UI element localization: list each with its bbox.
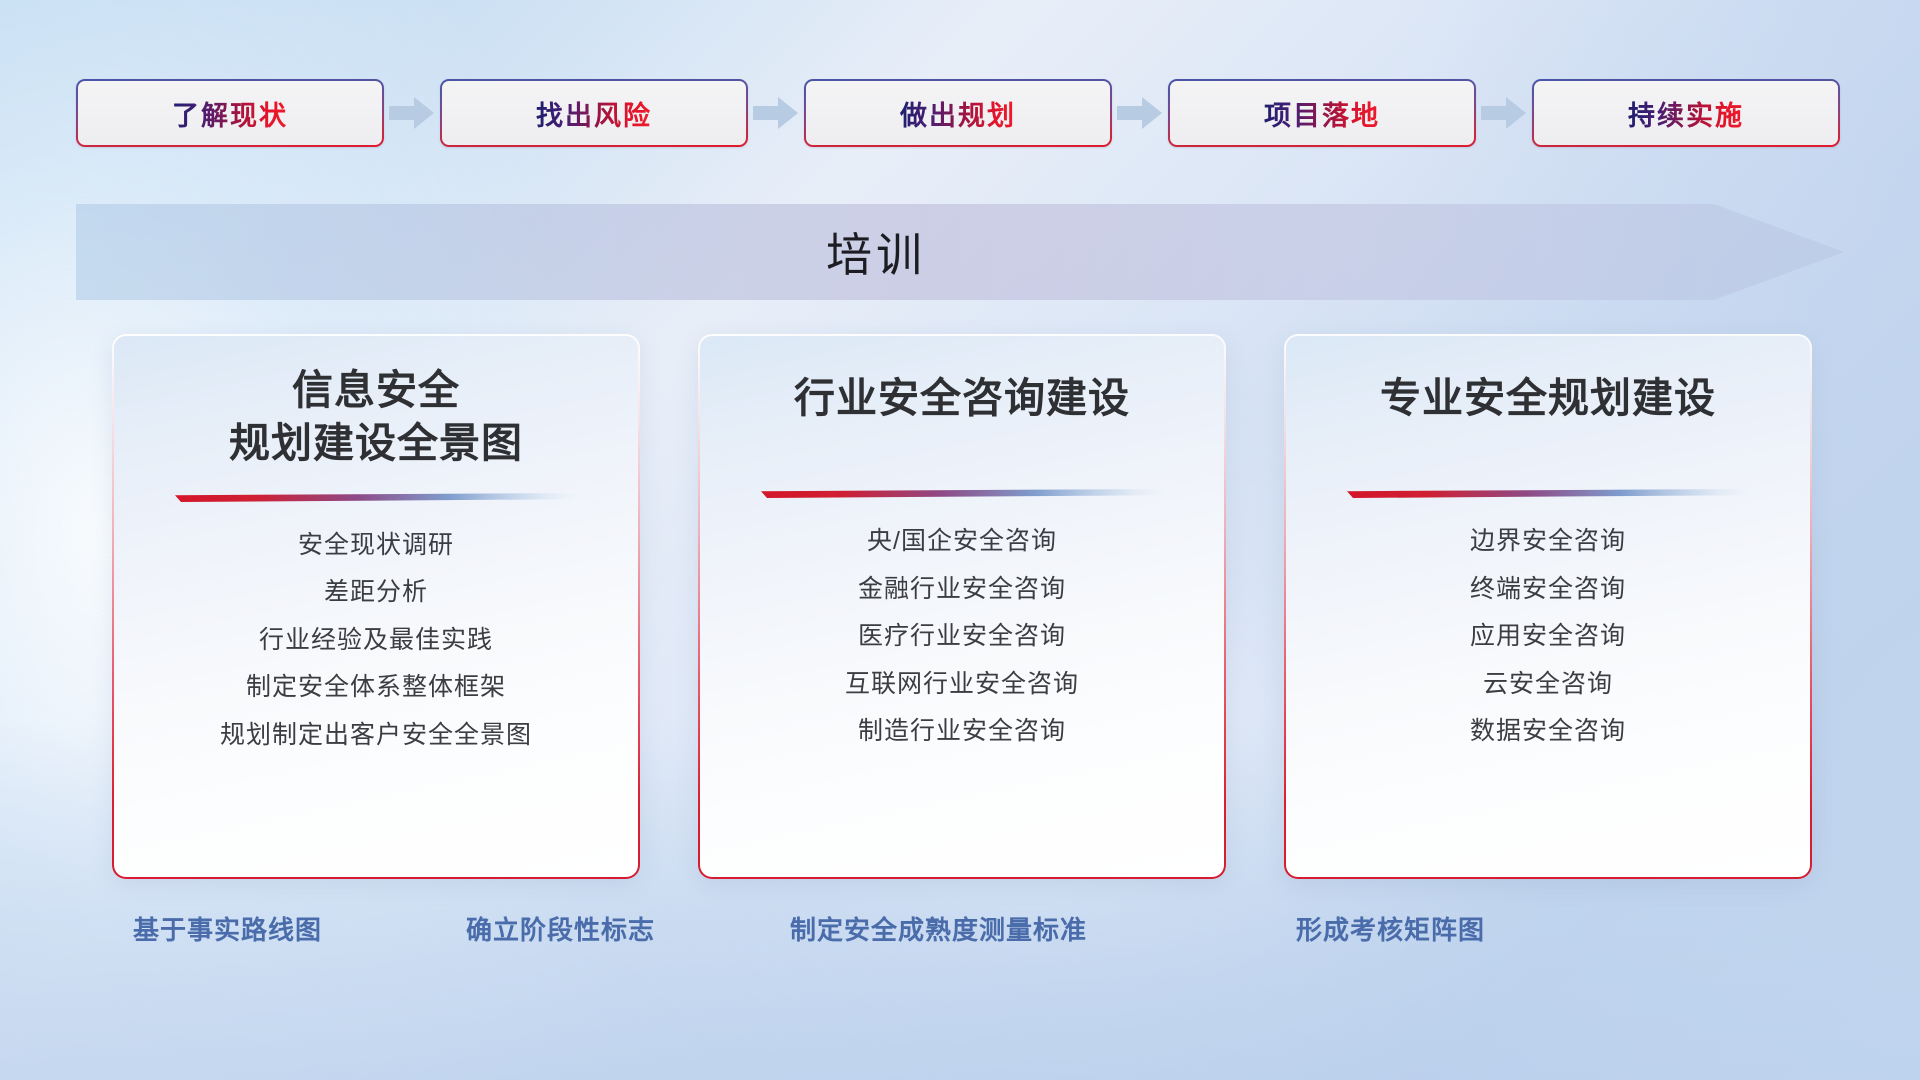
step-arrow-icon-3 xyxy=(1112,93,1168,133)
list-item: 应用安全咨询 xyxy=(1470,619,1626,655)
step-arrow-icon-2 xyxy=(748,93,804,133)
step-label-2: 找出风险 xyxy=(536,94,652,133)
offering-card-1-title: 信息安全 规划建设全景图 xyxy=(114,364,638,471)
list-item: 央/国企安全咨询 xyxy=(867,524,1057,560)
process-steps-row: 了解现状 找出风险 做出规划 项目落地 xyxy=(76,79,1844,147)
list-item: 安全现状调研 xyxy=(298,528,454,564)
list-item: 数据安全咨询 xyxy=(1470,714,1626,750)
step-box-5-inner: 持续实施 xyxy=(1534,81,1838,145)
list-item: 互联网行业安全咨询 xyxy=(845,667,1079,703)
list-item: 金融行业安全咨询 xyxy=(858,572,1066,608)
footer-label-3: 制定安全成熟度测量标准 xyxy=(790,910,1087,947)
training-banner: 培训 xyxy=(76,204,1844,300)
step-label-5: 持续实施 xyxy=(1628,94,1744,133)
list-item: 制定安全体系整体框架 xyxy=(246,670,506,706)
step-box-1[interactable]: 了解现状 xyxy=(76,79,384,147)
footer-label-4: 形成考核矩阵图 xyxy=(1296,910,1485,947)
offering-card-3-inner: 专业安全规划建设 xyxy=(1286,336,1810,877)
list-item: 边界安全咨询 xyxy=(1470,524,1626,560)
offering-card-1[interactable]: 信息安全 规划建设全景图 xyxy=(112,334,640,879)
step-label-3: 做出规划 xyxy=(900,94,1016,133)
offering-card-1-title-line2: 规划建设全景图 xyxy=(114,417,638,470)
step-arrow-icon-4 xyxy=(1476,93,1532,133)
step-box-3[interactable]: 做出规划 xyxy=(804,79,1112,147)
offering-card-2-title: 行业安全咨询建设 xyxy=(700,372,1224,425)
offering-card-1-list: 安全现状调研 差距分析 行业经验及最佳实践 制定安全体系整体框架 规划制定出客户… xyxy=(114,528,638,754)
list-item: 行业经验及最佳实践 xyxy=(259,623,493,659)
step-box-1-inner: 了解现状 xyxy=(78,81,382,145)
offering-card-2-title-line1: 行业安全咨询建设 xyxy=(700,372,1224,425)
list-item: 差距分析 xyxy=(324,575,428,611)
footer-labels-row: 基于事实路线图 确立阶段性标志 制定安全成熟度测量标准 形成考核矩阵图 xyxy=(0,910,1920,966)
step-box-2-inner: 找出风险 xyxy=(442,81,746,145)
step-box-4[interactable]: 项目落地 xyxy=(1168,79,1476,147)
offering-card-2-list: 央/国企安全咨询 金融行业安全咨询 医疗行业安全咨询 互联网行业安全咨询 制造行… xyxy=(700,524,1224,750)
offering-card-1-divider xyxy=(175,493,577,502)
offering-card-3-list: 边界安全咨询 终端安全咨询 应用安全咨询 云安全咨询 数据安全咨询 xyxy=(1286,524,1810,750)
list-item: 制造行业安全咨询 xyxy=(858,714,1066,750)
offering-card-3-divider xyxy=(1347,489,1749,498)
offering-card-3-title: 专业安全规划建设 xyxy=(1286,372,1810,425)
step-box-2[interactable]: 找出风险 xyxy=(440,79,748,147)
offering-card-3[interactable]: 专业安全规划建设 xyxy=(1284,334,1812,879)
list-item: 规划制定出客户安全全景图 xyxy=(220,718,532,754)
offering-card-1-inner: 信息安全 规划建设全景图 xyxy=(114,336,638,877)
list-item: 医疗行业安全咨询 xyxy=(858,619,1066,655)
footer-label-1: 基于事实路线图 xyxy=(133,910,322,947)
step-box-5[interactable]: 持续实施 xyxy=(1532,79,1840,147)
footer-label-2: 确立阶段性标志 xyxy=(466,910,655,947)
step-box-4-inner: 项目落地 xyxy=(1170,81,1474,145)
offering-card-2-inner: 行业安全咨询建设 xyxy=(700,336,1224,877)
training-banner-title: 培训 xyxy=(76,204,1676,300)
step-label-4: 项目落地 xyxy=(1264,94,1380,133)
list-item: 终端安全咨询 xyxy=(1470,572,1626,608)
list-item: 云安全咨询 xyxy=(1483,667,1613,703)
step-arrow-icon-1 xyxy=(384,93,440,133)
offering-card-2-divider xyxy=(761,489,1163,498)
offering-cards-row: 信息安全 规划建设全景图 xyxy=(112,334,1812,879)
step-box-3-inner: 做出规划 xyxy=(806,81,1110,145)
offering-card-2[interactable]: 行业安全咨询建设 xyxy=(698,334,1226,879)
offering-card-1-title-line1: 信息安全 xyxy=(114,364,638,417)
offering-card-3-title-line1: 专业安全规划建设 xyxy=(1286,372,1810,425)
step-label-1: 了解现状 xyxy=(172,94,288,133)
